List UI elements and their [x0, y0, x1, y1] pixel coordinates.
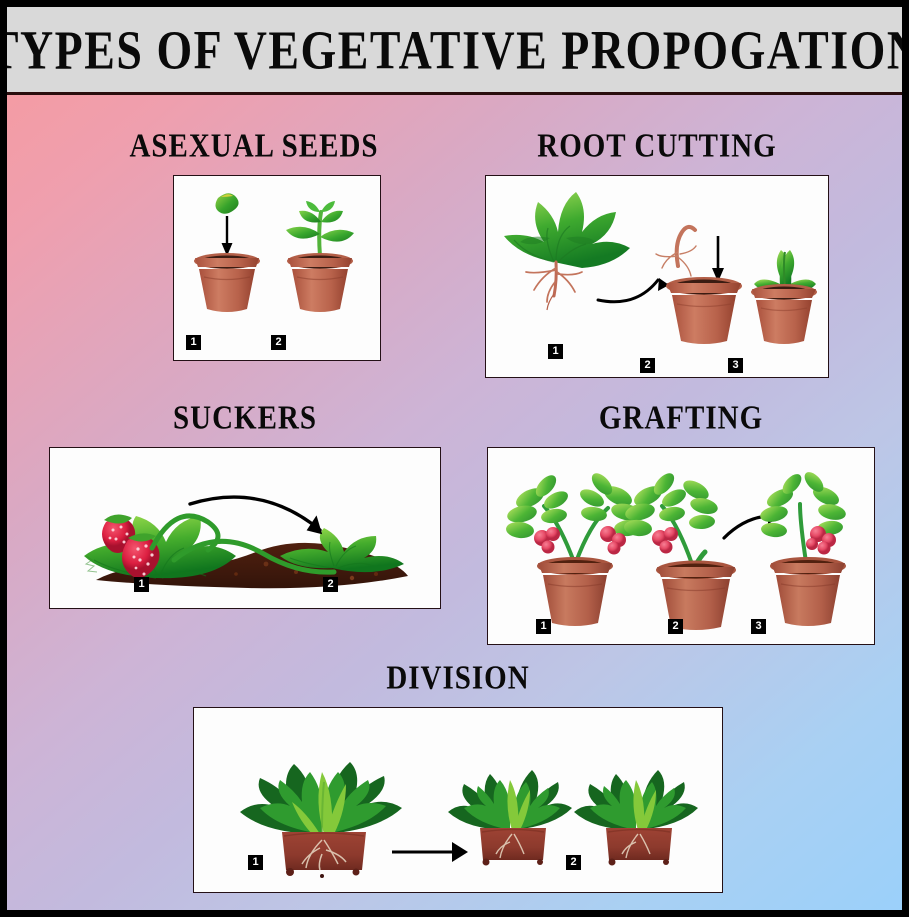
step-badge: 1	[248, 855, 263, 870]
step-badge: 2	[668, 619, 683, 634]
section-title-suckers: SUCKERS	[49, 399, 441, 438]
step-badge: 1	[186, 335, 201, 350]
poster-title-bar: TYPES OF VEGETATIVE PROPOGATION	[7, 7, 902, 95]
figure-seed-to-pot	[180, 182, 380, 332]
root-ball-2	[480, 828, 546, 866]
pot-with-soil	[666, 277, 742, 344]
page-title: TYPES OF VEGETATIVE PROPOGATION	[0, 18, 909, 81]
root-cutting-piece	[656, 227, 696, 276]
pot-with-sprout	[751, 284, 817, 344]
panel-division: 1 2	[193, 707, 723, 893]
step-badge: 2	[566, 855, 581, 870]
root-ball-1	[282, 832, 366, 878]
straight-arrow-division	[392, 842, 468, 862]
seed-glyph	[216, 193, 239, 214]
figure-division	[204, 716, 714, 886]
parent-plant-with-roots	[504, 192, 630, 310]
section-asexual-seeds: ASEXUAL SEEDS	[125, 133, 383, 361]
graft-plant-3	[759, 469, 848, 562]
down-arrow-root	[712, 236, 724, 282]
root-ball-3	[606, 828, 672, 866]
flower-cluster	[652, 527, 678, 554]
section-suckers: SUCKERS	[49, 405, 441, 609]
graft-pot-3	[770, 557, 846, 626]
step-badge: 1	[536, 619, 551, 634]
panel-root-cutting: 1 2 3	[485, 175, 829, 378]
step-badge: 1	[134, 577, 149, 592]
curved-arrow-suckers	[190, 497, 326, 534]
seedling-pot	[287, 253, 353, 312]
section-title-root-cutting: ROOT CUTTING	[485, 127, 829, 166]
empty-pot	[194, 253, 260, 312]
graft-pot-1	[537, 557, 613, 626]
section-title-asexual-seeds: ASEXUAL SEEDS	[125, 127, 383, 166]
figure-root-cutting	[492, 182, 824, 362]
poster-canvas: TYPES OF VEGETATIVE PROPOGATION ASEXUAL …	[0, 0, 909, 917]
down-arrow-seed	[222, 216, 233, 256]
section-division: DIVISION	[193, 665, 723, 893]
section-title-division: DIVISION	[193, 659, 723, 698]
division-clump-3	[574, 770, 698, 866]
panel-grafting: 1 2 3	[487, 447, 875, 645]
step-badge: 2	[271, 335, 286, 350]
seedling-plant	[286, 201, 354, 256]
graft-plant-1	[505, 470, 643, 562]
section-grafting: GRAFTING	[487, 405, 875, 645]
step-badge: 2	[323, 577, 338, 592]
figure-strawberry-runner	[56, 456, 434, 601]
curved-arrow-root	[598, 278, 669, 302]
step-badge: 1	[548, 344, 563, 359]
panel-asexual-seeds: 1 2	[173, 175, 381, 361]
section-title-grafting: GRAFTING	[487, 399, 875, 438]
section-root-cutting: ROOT CUTTING	[485, 133, 829, 378]
step-badge: 3	[728, 358, 743, 373]
step-badge: 3	[751, 619, 766, 634]
division-clump-1	[240, 762, 402, 878]
figure-grafting	[496, 454, 868, 634]
panel-suckers: 1 2	[49, 447, 441, 609]
graft-plant-2	[623, 470, 719, 566]
step-badge: 2	[640, 358, 655, 373]
